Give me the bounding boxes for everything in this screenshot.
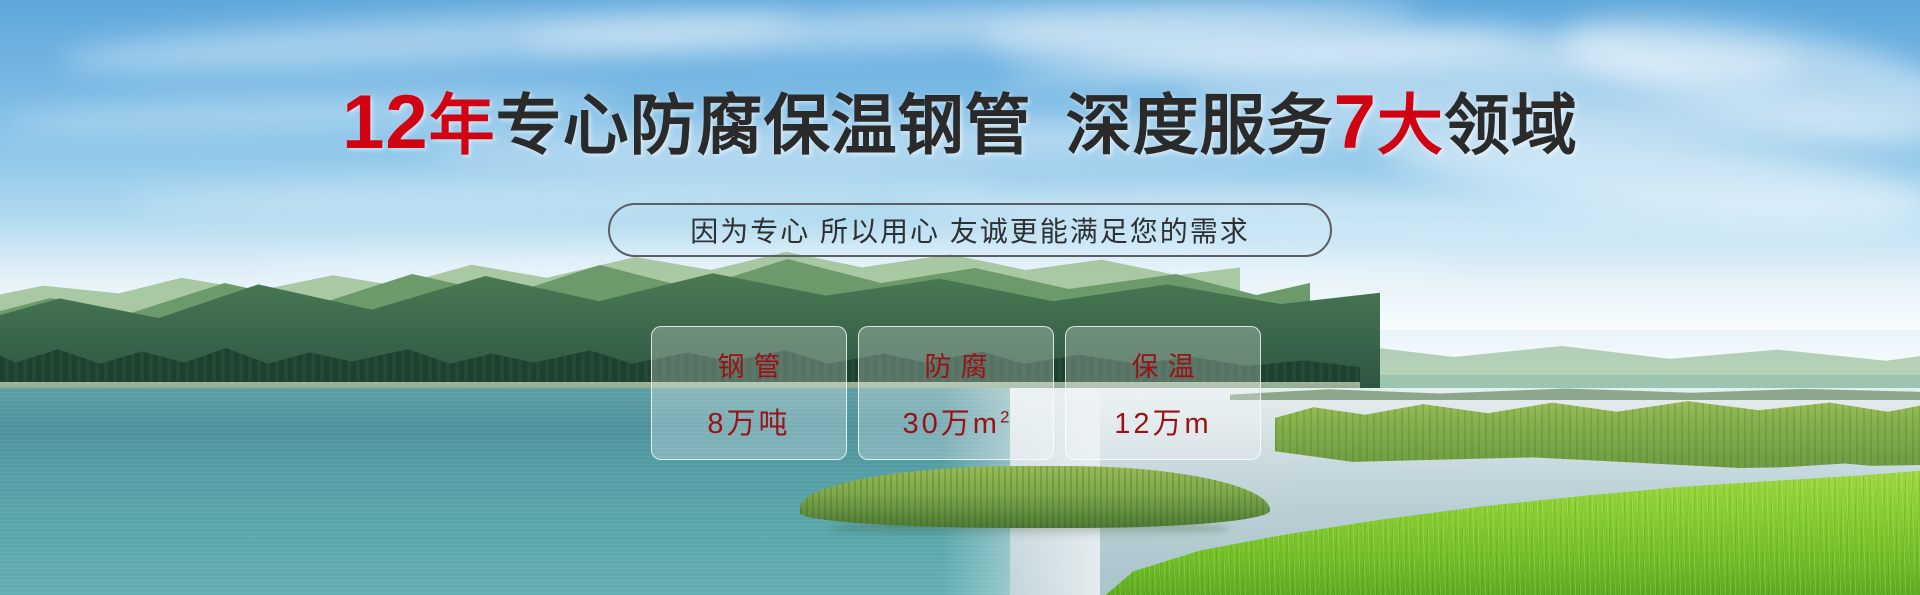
headline-fields-number: 7 (1334, 80, 1377, 165)
stat-card-value: 30万m2 (903, 400, 1010, 442)
stat-card-group: 钢管 8万吨 防腐 30万m2 保温 12万m (651, 326, 1271, 460)
stat-card-steel-pipe[interactable]: 钢管 8万吨 (651, 326, 847, 460)
stat-card-title: 保温 (1123, 345, 1204, 384)
stat-card-value-superscript: 2 (1000, 407, 1009, 426)
stat-card-title: 防腐 (916, 345, 997, 384)
stat-card-value-text: 8万吨 (707, 408, 790, 440)
headline-tail-text: 领域 (1444, 88, 1578, 162)
stat-card-value-text: 12万m (1114, 408, 1211, 440)
hero-banner: 12年专心防腐保温钢管深度服务7大领域 因为专心 所以用心 友诚更能满足您的需求… (0, 0, 1920, 595)
headline-years-number: 12 (342, 80, 429, 165)
stat-card-insulation[interactable]: 保温 12万m (1065, 326, 1261, 460)
headline-years-unit: 年 (429, 88, 496, 162)
stat-card-value: 8万吨 (707, 400, 790, 442)
subtitle-pill: 因为专心 所以用心 友诚更能满足您的需求 (608, 203, 1332, 257)
headline: 12年专心防腐保温钢管深度服务7大领域 (0, 88, 1920, 160)
stat-card-anticorrosion[interactable]: 防腐 30万m2 (858, 326, 1054, 460)
headline-main-text: 专心防腐保温钢管 (496, 88, 1032, 162)
headline-fields-unit: 大 (1377, 88, 1444, 162)
subtitle-text: 因为专心 所以用心 友诚更能满足您的需求 (690, 210, 1250, 250)
headline-service-text: 深度服务 (1066, 88, 1334, 162)
stat-card-title: 钢管 (709, 345, 790, 384)
stat-card-value-text: 30万m (903, 408, 1000, 440)
stat-card-value: 12万m (1114, 400, 1211, 442)
